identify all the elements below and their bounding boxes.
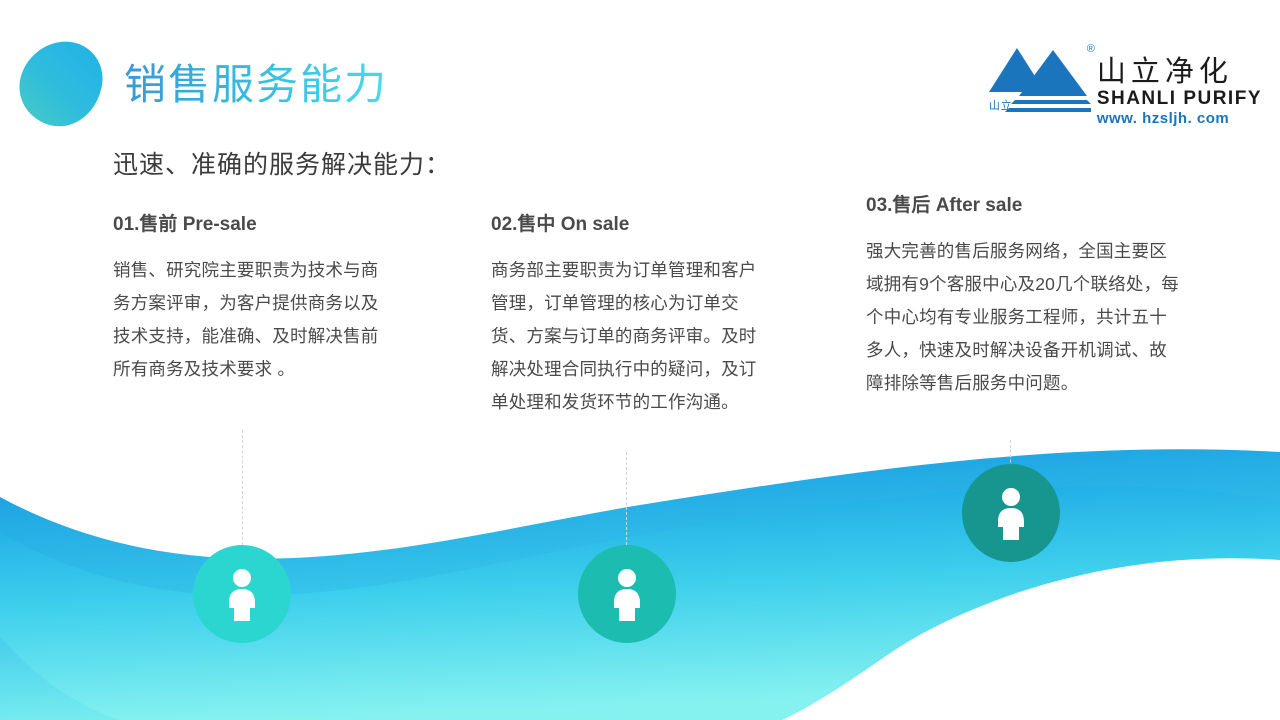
subtitle: 迅速、准确的服务解决能力： xyxy=(113,148,451,182)
company-logo: ® 山立 山立净化 SHANLI PURIFY www. hzsljh. com xyxy=(987,44,1262,128)
column-body-text: 销售、研究院主要职责为技术与商务方案评审，为客户提供商务以及技术支持，能准确、及… xyxy=(113,254,385,386)
page-title: 销售服务能力 xyxy=(124,58,388,112)
logo-mountain-icon: ® 山立 xyxy=(987,44,1091,120)
column-heading: 03.售后 After sale xyxy=(866,193,1184,219)
logo-name-cn: 山立净化 xyxy=(1097,56,1262,88)
marker-circle-after-sale[interactable] xyxy=(962,464,1060,562)
column-body-text: 商务部主要职责为订单管理和客户管理，订单管理的核心为订单交货、方案与订单的商务评… xyxy=(491,254,773,419)
content-column-pre-sale: 01.售前 Pre-sale 销售、研究院主要职责为技术与商务方案评审，为客户提… xyxy=(113,212,385,386)
decorative-blob-icon xyxy=(17,40,105,128)
column-heading: 02.售中 On sale xyxy=(491,212,773,238)
content-column-after-sale: 03.售后 After sale 强大完善的售后服务网络，全国主要区域拥有9个客… xyxy=(866,193,1184,400)
slide-canvas: 销售服务能力 ® 山立 山立净化 SHANLI PURIFY www. hzsl… xyxy=(0,0,1280,720)
marker-circle-on-sale[interactable] xyxy=(578,545,676,643)
person-icon xyxy=(224,567,260,621)
marker-circle-pre-sale[interactable] xyxy=(193,545,291,643)
logo-mark-label: 山立 xyxy=(989,100,1013,112)
content-column-on-sale: 02.售中 On sale 商务部主要职责为订单管理和客户管理，订单管理的核心为… xyxy=(491,212,773,419)
logo-website-url: www. hzsljh. com xyxy=(1097,110,1262,128)
column-body-text: 强大完善的售后服务网络，全国主要区域拥有9个客服中心及20几个联络处，每个中心均… xyxy=(866,235,1184,400)
registered-trademark-symbol: ® xyxy=(1087,44,1095,55)
column-heading: 01.售前 Pre-sale xyxy=(113,212,385,238)
person-icon xyxy=(609,567,645,621)
wave-white-gap-shape xyxy=(782,554,1280,720)
logo-name-en: SHANLI PURIFY xyxy=(1097,88,1262,110)
logo-wordmark: 山立净化 SHANLI PURIFY www. hzsljh. com xyxy=(1097,56,1262,128)
connector-line-1 xyxy=(242,430,243,560)
connector-line-2 xyxy=(626,452,627,560)
person-icon xyxy=(993,486,1029,540)
